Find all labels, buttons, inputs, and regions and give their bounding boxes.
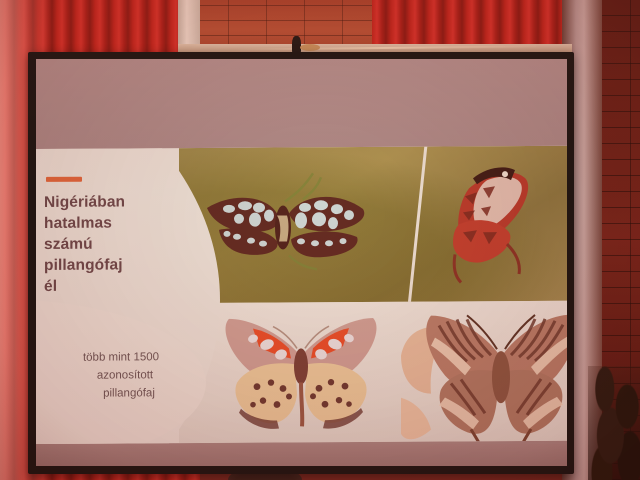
butterfly-photo-bottom-left — [203, 308, 399, 437]
slide-title-line: Nigériában — [44, 191, 196, 213]
photo-divider — [407, 146, 428, 303]
butterfly-photo-top-left — [193, 171, 373, 284]
slide-photo-row-bottom — [179, 301, 567, 443]
slide-subtitle-line: több mint 1500 — [36, 348, 210, 367]
slide-subtitle-line: azonosított — [40, 366, 210, 385]
screen-unlit-area-bottom — [36, 444, 567, 466]
slide-title-line: pillangófaj — [44, 254, 196, 276]
slide-title-line: számú — [44, 233, 196, 255]
potted-plant — [588, 366, 640, 480]
slide-title-line: él — [44, 275, 196, 297]
slide-title-line: hatalmas — [44, 212, 196, 234]
projector-screen-surface: Nigériában hatalmas számú pillangófaj él… — [36, 59, 567, 466]
screen-unlit-area-top — [36, 59, 567, 151]
butterfly-photo-top-right — [429, 162, 567, 295]
presentation-slide: Nigériában hatalmas számú pillangófaj él… — [36, 146, 567, 444]
slide-photo-row-top — [179, 146, 567, 303]
projector-screen: Nigériában hatalmas számú pillangófaj él… — [28, 52, 574, 474]
accent-bar — [46, 177, 82, 182]
butterfly-photo-bottom-right — [401, 301, 567, 443]
slide-subtitle: több mint 1500 azonosított pillangófaj — [42, 348, 210, 403]
slide-title: Nigériában hatalmas számú pillangófaj él — [44, 191, 196, 297]
slide-subtitle-line: pillangófaj — [48, 384, 210, 403]
slide-text-column: Nigériában hatalmas számú pillangófaj él… — [36, 148, 196, 444]
